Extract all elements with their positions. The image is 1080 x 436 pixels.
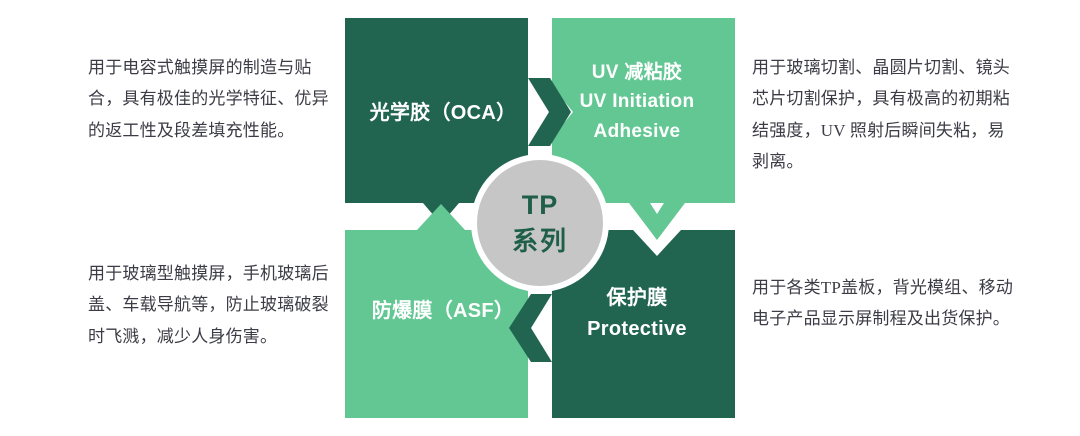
description-protective-film: 用于各类TP盖板，背光模组、移动电子产品显示屏制程及出货保护。: [752, 272, 1014, 335]
description-optical-adhesive: 用于电容式触摸屏的制造与贴合，具有极佳的光学特征、优异的返工性及段差填充性能。: [88, 52, 340, 146]
tp-series-cycle-diagram: 光学胶（OCA） UV 减粘胶 UV Initiation Adhesive 防…: [345, 18, 735, 418]
description-anti-shatter-film: 用于玻璃型触摸屏，手机玻璃后盖、车载导航等，防止玻璃破裂时飞溅，减少人身伤害。: [88, 258, 340, 352]
hub-circle: TP 系列: [471, 154, 609, 292]
hub-title: TP: [522, 189, 559, 223]
description-uv-adhesive: 用于玻璃切割、晶圆片切割、镜头芯片切割保护，具有极高的初期粘结强度，UV 照射后…: [752, 52, 1014, 178]
hub-subtitle: 系列: [512, 225, 568, 258]
